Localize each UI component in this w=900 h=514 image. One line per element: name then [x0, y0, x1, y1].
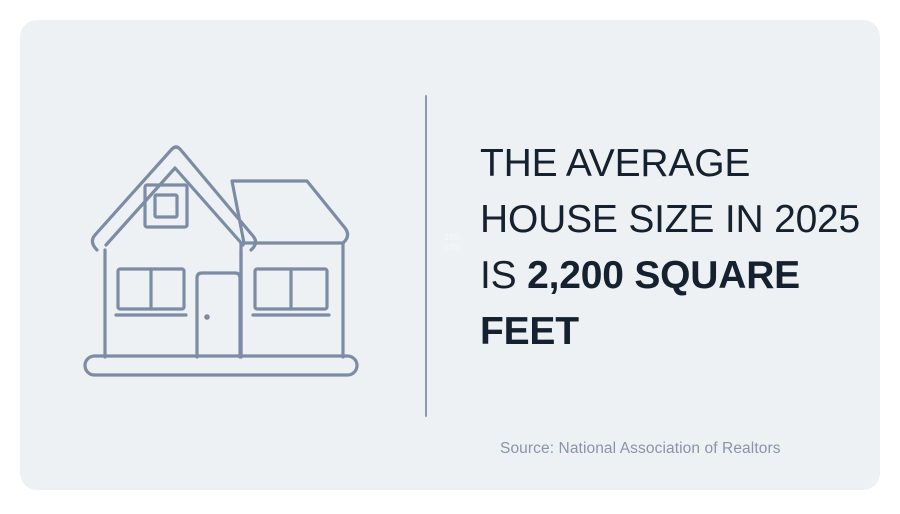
vertical-divider	[425, 95, 427, 417]
headline: THE AVERAGEHOUSE SIZE IN 2025IS 2,200 SQ…	[480, 136, 872, 360]
attic-window-inner-icon	[155, 195, 177, 217]
text-panel: THE AVERAGEHOUSE SIZE IN 2025IS 2,200 SQ…	[480, 20, 880, 490]
door-knob-icon	[204, 314, 210, 320]
watermark-line-2: 185	[444, 242, 460, 252]
headline-line-1: THE AVERAGE	[480, 142, 750, 185]
infographic-card: 185185 THE AVERAGEHOUSE SIZE IN 2025IS 2…	[20, 20, 880, 490]
headline-line-3-prefix: IS	[480, 254, 527, 297]
headline-line-3-emphasis: 2,200 SQUARE	[527, 254, 800, 297]
watermark-artifact: 185185	[434, 232, 470, 252]
headline-line-2: HOUSE SIZE IN 2025	[480, 198, 860, 241]
headline-line-4-emphasis: FEET	[480, 310, 579, 353]
foundation-bar-icon	[85, 356, 357, 375]
watermark-line-1: 185	[444, 232, 460, 242]
attic-window-outer-icon	[145, 185, 187, 227]
house-icon	[75, 132, 365, 382]
house-body-icon	[105, 250, 241, 357]
source-attribution: Source: National Association of Realtors	[500, 439, 781, 459]
gable-roof-inner-icon	[106, 168, 243, 245]
illustration-panel	[20, 20, 425, 490]
front-door-icon	[197, 273, 240, 357]
